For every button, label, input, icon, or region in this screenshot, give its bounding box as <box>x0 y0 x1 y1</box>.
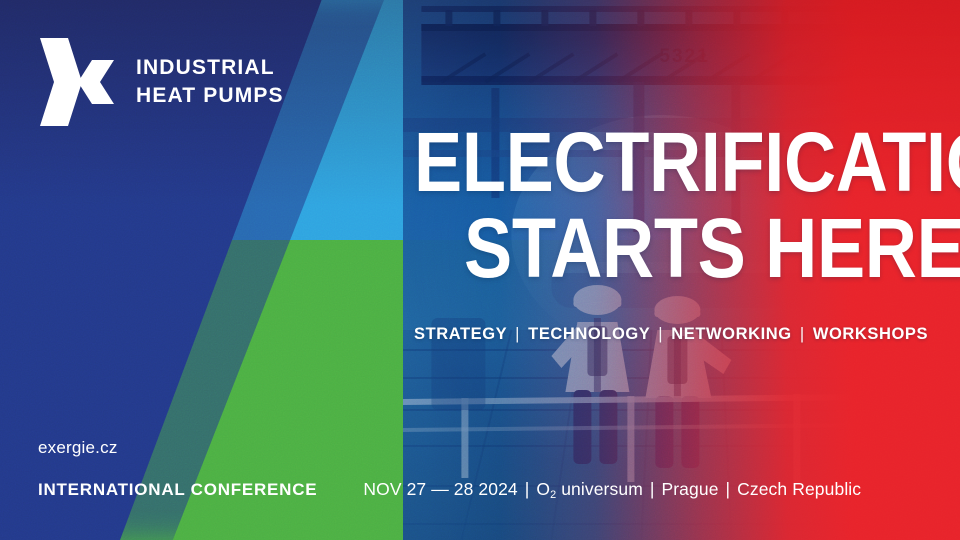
event-venue: O2 universum <box>536 479 643 499</box>
subtitle-item-workshops: WORKSHOPS <box>813 325 928 343</box>
event-details: NOV 27 — 28 2024 | O2 universum | Prague… <box>363 479 861 500</box>
headline-line-1: ELECTRIFICATION <box>414 126 861 198</box>
subtitle-separator: | <box>655 325 666 343</box>
event-type-label: INTERNATIONAL CONFERENCE <box>38 480 317 500</box>
subtitle-item-networking: NETWORKING <box>671 325 791 343</box>
subtitle-separator: | <box>512 325 523 343</box>
event-dates: NOV 27 — 28 2024 <box>363 479 517 499</box>
event-city: Prague <box>661 479 718 499</box>
footer-bar: INTERNATIONAL CONFERENCE NOV 27 — 28 202… <box>38 479 934 500</box>
website-url[interactable]: exergie.cz <box>38 438 118 458</box>
headline-line-2: STARTS HERE <box>464 212 868 284</box>
x-chevron-logo-icon <box>38 38 116 126</box>
venue-name-subscript: 2 <box>550 489 556 501</box>
details-separator: | <box>523 479 532 499</box>
conference-banner: 5321 <box>0 0 960 540</box>
subtitle-item-strategy: STRATEGY <box>414 325 507 343</box>
venue-name-prefix: O <box>536 479 550 499</box>
subtitle-item-technology: TECHNOLOGY <box>528 325 650 343</box>
brand-wordmark-line2: HEAT PUMPS <box>136 82 284 110</box>
brand-wordmark-line1: INDUSTRIAL <box>136 54 284 82</box>
headline-subtitle: STRATEGY | TECHNOLOGY | NETWORKING | WOR… <box>414 325 928 344</box>
venue-name-suffix: universum <box>556 479 643 499</box>
event-country: Czech Republic <box>737 479 861 499</box>
subtitle-separator: | <box>797 325 808 343</box>
brand-wordmark: INDUSTRIAL HEAT PUMPS <box>136 54 284 110</box>
brand-logo[interactable]: INDUSTRIAL HEAT PUMPS <box>38 38 284 126</box>
headline: ELECTRIFICATION STARTS HERE <box>414 126 934 284</box>
details-separator: | <box>724 479 733 499</box>
details-separator: | <box>648 479 657 499</box>
